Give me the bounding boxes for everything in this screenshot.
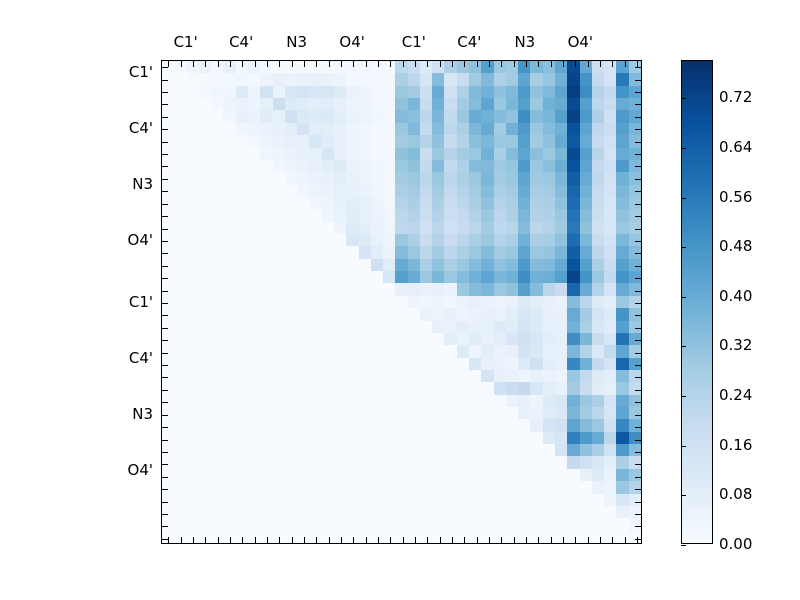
heatmap-cell: [346, 135, 358, 147]
heatmap-cell: [555, 370, 567, 382]
heatmap-cell: [555, 321, 567, 333]
heatmap-cell: [223, 73, 235, 85]
heatmap-cell: [444, 73, 456, 85]
heatmap-cell: [359, 222, 371, 234]
heatmap-cell: [236, 110, 248, 122]
heatmap-cell: [481, 86, 493, 98]
heatmap-cell: [580, 222, 592, 234]
heatmap-cell: [567, 172, 579, 184]
heatmap-cell: [494, 456, 506, 468]
y-tick-mark: [162, 92, 168, 93]
heatmap-cell: [223, 209, 235, 221]
heatmap-cell: [187, 506, 199, 518]
heatmap-cell: [457, 123, 469, 135]
heatmap-cell: [555, 296, 567, 308]
heatmap-cell: [285, 308, 297, 320]
heatmap-cell: [580, 259, 592, 271]
heatmap-cell: [309, 246, 321, 258]
heatmap-cell: [248, 518, 260, 530]
heatmap-cell: [359, 148, 371, 160]
heatmap-cell: [543, 370, 555, 382]
heatmap-cell: [567, 481, 579, 493]
colorbar-tick-labels: 0.000.080.160.240.320.400.480.560.640.72: [681, 0, 791, 600]
y-tick-label: C4': [129, 349, 153, 367]
heatmap-cell: [334, 160, 346, 172]
heatmap-cell: [359, 185, 371, 197]
heatmap-cell: [555, 160, 567, 172]
heatmap-cell: [309, 160, 321, 172]
heatmap-cell: [346, 308, 358, 320]
heatmap-cell: [395, 172, 407, 184]
y-tick-mark: [162, 502, 168, 503]
heatmap-cell: [223, 246, 235, 258]
heatmap-cell: [236, 160, 248, 172]
heatmap-cell: [285, 345, 297, 357]
heatmap-cell: [592, 395, 604, 407]
heatmap-cell: [395, 456, 407, 468]
heatmap-cell: [604, 148, 616, 160]
heatmap-cell: [432, 271, 444, 283]
heatmap-cell: [285, 395, 297, 407]
heatmap-cell: [469, 382, 481, 394]
heatmap-cell: [174, 419, 186, 431]
colorbar-tick-label: 0.64: [719, 138, 752, 156]
heatmap-cell: [420, 259, 432, 271]
heatmap-cell: [297, 123, 309, 135]
y-tick-mark: [162, 365, 168, 366]
heatmap-cell: [322, 246, 334, 258]
heatmap-cell: [580, 469, 592, 481]
heatmap-cell: [285, 185, 297, 197]
x-tick-mark: [637, 61, 638, 67]
heatmap-cell: [297, 419, 309, 431]
heatmap-cell: [555, 345, 567, 357]
heatmap-cell: [444, 222, 456, 234]
heatmap-cell: [543, 308, 555, 320]
heatmap-cell: [383, 370, 395, 382]
heatmap-cell: [530, 370, 542, 382]
heatmap-cell: [580, 197, 592, 209]
y-tick-mark: [162, 390, 168, 391]
heatmap-cell: [432, 518, 444, 530]
heatmap-cell: [199, 271, 211, 283]
y-tick-mark: [635, 539, 641, 540]
heatmap-cell: [494, 172, 506, 184]
heatmap-cell: [285, 73, 297, 85]
heatmap-cell: [580, 283, 592, 295]
heatmap-cell: [236, 296, 248, 308]
heatmap-cell: [371, 506, 383, 518]
heatmap-cell: [506, 432, 518, 444]
heatmap-cell: [555, 98, 567, 110]
heatmap-cell: [285, 494, 297, 506]
x-tick-mark: [415, 537, 416, 543]
heatmap-cell: [346, 345, 358, 357]
heatmap-cell: [359, 481, 371, 493]
heatmap-cell: [518, 456, 530, 468]
heatmap-cell: [322, 209, 334, 221]
heatmap-cell: [285, 506, 297, 518]
heatmap-cell: [334, 98, 346, 110]
heatmap-cell: [444, 123, 456, 135]
x-tick-mark: [378, 61, 379, 67]
heatmap-cell: [481, 259, 493, 271]
heatmap-cell: [162, 370, 174, 382]
x-tick-label: C4': [457, 33, 481, 51]
heatmap-cell: [567, 333, 579, 345]
heatmap-cell: [359, 172, 371, 184]
heatmap-cell: [555, 333, 567, 345]
heatmap-cell: [580, 432, 592, 444]
heatmap-cell: [469, 209, 481, 221]
heatmap-cell: [211, 296, 223, 308]
heatmap-cell: [383, 358, 395, 370]
heatmap-cell: [248, 395, 260, 407]
heatmap-cell: [444, 172, 456, 184]
heatmap-cell: [199, 321, 211, 333]
heatmap-cell: [383, 259, 395, 271]
heatmap-cell: [395, 185, 407, 197]
heatmap-cell: [248, 135, 260, 147]
heatmap-cell: [469, 86, 481, 98]
heatmap-cell: [469, 407, 481, 419]
heatmap-cell: [273, 419, 285, 431]
heatmap-cell: [273, 160, 285, 172]
heatmap-cell: [248, 506, 260, 518]
heatmap-cell: [334, 494, 346, 506]
heatmap-cell: [199, 197, 211, 209]
heatmap-cell: [260, 172, 272, 184]
heatmap-cell: [297, 110, 309, 122]
heatmap-cell: [285, 481, 297, 493]
heatmap-cell: [518, 98, 530, 110]
colorbar-tick-label: 0.24: [719, 386, 752, 404]
heatmap-cell: [211, 456, 223, 468]
heatmap-cell: [383, 135, 395, 147]
heatmap-cell: [395, 160, 407, 172]
heatmap-cell: [346, 370, 358, 382]
heatmap-cell: [371, 160, 383, 172]
heatmap-cell: [199, 382, 211, 394]
heatmap-cell: [616, 172, 628, 184]
x-tick-mark: [341, 537, 342, 543]
heatmap-cell: [334, 271, 346, 283]
x-tick-mark: [625, 61, 626, 67]
heatmap-cell: [383, 419, 395, 431]
heatmap-cell: [457, 197, 469, 209]
heatmap-cell: [162, 456, 174, 468]
heatmap-cell: [248, 123, 260, 135]
heatmap-cell: [383, 123, 395, 135]
heatmap-cell: [371, 370, 383, 382]
heatmap-cell: [432, 296, 444, 308]
heatmap-cell: [555, 123, 567, 135]
x-tick-mark: [514, 61, 515, 67]
heatmap-cell: [395, 61, 407, 73]
heatmap-cell: [236, 234, 248, 246]
heatmap-cell: [211, 419, 223, 431]
heatmap-cell: [174, 160, 186, 172]
heatmap-cell: [223, 185, 235, 197]
heatmap-cell: [420, 345, 432, 357]
heatmap-cell: [629, 395, 641, 407]
x-tick-mark: [575, 537, 576, 543]
heatmap-cell: [567, 407, 579, 419]
heatmap-cell: [580, 271, 592, 283]
heatmap-cell: [604, 308, 616, 320]
heatmap-cell: [371, 382, 383, 394]
heatmap-cell: [334, 506, 346, 518]
heatmap-cell: [481, 61, 493, 73]
heatmap-cell: [322, 382, 334, 394]
y-tick-label: C1': [129, 293, 153, 311]
heatmap-cell: [223, 296, 235, 308]
heatmap-cell: [592, 135, 604, 147]
heatmap-cell: [285, 370, 297, 382]
heatmap-cell: [420, 209, 432, 221]
heatmap-cell: [518, 518, 530, 530]
heatmap-cell: [223, 407, 235, 419]
heatmap-cell: [334, 123, 346, 135]
heatmap-cell: [592, 110, 604, 122]
heatmap-cell: [469, 456, 481, 468]
heatmap-cell: [309, 234, 321, 246]
heatmap-cell: [543, 321, 555, 333]
heatmap-cell: [285, 456, 297, 468]
heatmap-cell: [420, 382, 432, 394]
heatmap-cell: [567, 234, 579, 246]
heatmap-cell: [223, 110, 235, 122]
heatmap-cell: [580, 98, 592, 110]
heatmap-cell: [432, 345, 444, 357]
heatmap-cell: [604, 370, 616, 382]
heatmap-cell: [543, 234, 555, 246]
heatmap-cell: [187, 407, 199, 419]
colorbar-tick-label: 0.56: [719, 188, 752, 206]
heatmap-cell: [248, 494, 260, 506]
heatmap-cell: [187, 296, 199, 308]
heatmap-cell: [567, 432, 579, 444]
heatmap-cell: [530, 494, 542, 506]
heatmap-cell: [457, 494, 469, 506]
heatmap-cell: [506, 110, 518, 122]
heatmap-cell: [494, 469, 506, 481]
heatmap-cell: [273, 494, 285, 506]
heatmap-cell: [543, 481, 555, 493]
heatmap-cell: [297, 321, 309, 333]
heatmap-cell: [530, 469, 542, 481]
heatmap-cell: [322, 123, 334, 135]
heatmap-cell: [260, 160, 272, 172]
heatmap-cell: [260, 494, 272, 506]
heatmap-cell: [555, 432, 567, 444]
heatmap-cell: [199, 222, 211, 234]
heatmap-cell: [518, 419, 530, 431]
heatmap-cell: [334, 296, 346, 308]
heatmap-cell: [444, 494, 456, 506]
heatmap-cell: [444, 246, 456, 258]
heatmap-cell: [543, 160, 555, 172]
heatmap-cell: [506, 308, 518, 320]
heatmap-cell: [629, 432, 641, 444]
heatmap-cell: [469, 98, 481, 110]
heatmap-cell: [395, 370, 407, 382]
heatmap-cell: [592, 456, 604, 468]
heatmap-cell: [199, 456, 211, 468]
heatmap-cell: [481, 407, 493, 419]
heatmap-cell: [223, 283, 235, 295]
heatmap-cell: [481, 110, 493, 122]
heatmap-cell: [481, 345, 493, 357]
y-tick-mark: [162, 278, 168, 279]
heatmap-cell: [199, 246, 211, 258]
heatmap-cell: [616, 271, 628, 283]
heatmap-cell: [444, 86, 456, 98]
heatmap-cell: [444, 271, 456, 283]
heatmap-cell: [530, 110, 542, 122]
heatmap-cell: [199, 259, 211, 271]
heatmap-cell: [334, 481, 346, 493]
heatmap-cell: [506, 506, 518, 518]
heatmap-cell: [629, 481, 641, 493]
heatmap-cell: [481, 481, 493, 493]
x-tick-mark: [427, 537, 428, 543]
heatmap-cell: [199, 345, 211, 357]
heatmap-cell: [494, 531, 506, 543]
heatmap-cell: [616, 358, 628, 370]
heatmap-cell: [420, 135, 432, 147]
heatmap-cell: [469, 370, 481, 382]
heatmap-cell: [457, 185, 469, 197]
heatmap-cell: [616, 370, 628, 382]
heatmap-cell: [555, 395, 567, 407]
heatmap-cell: [555, 110, 567, 122]
heatmap-cell: [346, 321, 358, 333]
x-tick-mark: [501, 537, 502, 543]
heatmap-cell: [457, 419, 469, 431]
heatmap-cell: [408, 333, 420, 345]
heatmap-cell: [174, 246, 186, 258]
heatmap-cell: [273, 246, 285, 258]
heatmap-cell: [604, 197, 616, 209]
colorbar-tick-label: 0.32: [719, 336, 752, 354]
heatmap-cell: [223, 160, 235, 172]
heatmap-cell: [580, 395, 592, 407]
x-tick-mark: [279, 537, 280, 543]
heatmap-cell: [297, 271, 309, 283]
heatmap-cell: [285, 110, 297, 122]
heatmap-cell: [506, 61, 518, 73]
heatmap-cell: [592, 98, 604, 110]
heatmap-cell: [444, 531, 456, 543]
y-tick-mark: [635, 377, 641, 378]
heatmap-cell: [543, 86, 555, 98]
heatmap-cell: [285, 197, 297, 209]
heatmap-cell: [481, 296, 493, 308]
heatmap-cell: [494, 271, 506, 283]
heatmap-cell: [334, 234, 346, 246]
heatmap-cell: [506, 222, 518, 234]
heatmap-cell: [444, 333, 456, 345]
heatmap-cell: [408, 73, 420, 85]
heatmap-axes[interactable]: [161, 60, 642, 544]
y-tick-mark: [162, 377, 168, 378]
heatmap-grid: [162, 61, 641, 543]
x-tick-mark: [538, 537, 539, 543]
heatmap-cell: [248, 246, 260, 258]
heatmap-cell: [236, 135, 248, 147]
heatmap-cell: [174, 321, 186, 333]
heatmap-cell: [420, 308, 432, 320]
heatmap-cell: [297, 222, 309, 234]
heatmap-cell: [297, 506, 309, 518]
heatmap-cell: [309, 370, 321, 382]
heatmap-cell: [580, 110, 592, 122]
heatmap-cell: [248, 283, 260, 295]
heatmap-cell: [518, 160, 530, 172]
heatmap-cell: [518, 407, 530, 419]
heatmap-cell: [530, 246, 542, 258]
heatmap-cell: [432, 209, 444, 221]
heatmap-cell: [506, 333, 518, 345]
heatmap-cell: [395, 345, 407, 357]
heatmap-cell: [555, 494, 567, 506]
heatmap-cell: [395, 444, 407, 456]
heatmap-cell: [359, 518, 371, 530]
heatmap-cell: [236, 444, 248, 456]
heatmap-cell: [518, 135, 530, 147]
heatmap-cell: [395, 234, 407, 246]
x-tick-mark: [267, 61, 268, 67]
figure-canvas: C1'C4'N3O4'C1'C4'N3O4' C1'C4'N3O4'C1'C4'…: [0, 0, 800, 600]
heatmap-cell: [309, 172, 321, 184]
heatmap-cell: [543, 333, 555, 345]
heatmap-cell: [236, 185, 248, 197]
heatmap-cell: [297, 432, 309, 444]
heatmap-cell: [580, 185, 592, 197]
heatmap-cell: [580, 172, 592, 184]
heatmap-cell: [383, 148, 395, 160]
heatmap-cell: [236, 321, 248, 333]
heatmap-cell: [211, 345, 223, 357]
heatmap-cell: [604, 358, 616, 370]
x-tick-mark: [563, 537, 564, 543]
heatmap-cell: [420, 148, 432, 160]
heatmap-cell: [580, 321, 592, 333]
heatmap-cell: [469, 135, 481, 147]
heatmap-cell: [174, 110, 186, 122]
y-tick-mark: [635, 104, 641, 105]
heatmap-cell: [371, 185, 383, 197]
heatmap-cell: [469, 61, 481, 73]
heatmap-cell: [322, 358, 334, 370]
x-tick-mark: [612, 537, 613, 543]
heatmap-cell: [555, 222, 567, 234]
heatmap-cell: [481, 271, 493, 283]
heatmap-cell: [469, 333, 481, 345]
heatmap-cell: [555, 382, 567, 394]
heatmap-cell: [199, 518, 211, 530]
heatmap-cell: [604, 494, 616, 506]
heatmap-cell: [371, 86, 383, 98]
heatmap-cell: [273, 382, 285, 394]
y-tick-mark: [635, 216, 641, 217]
heatmap-cell: [383, 444, 395, 456]
heatmap-cell: [506, 407, 518, 419]
heatmap-cell: [530, 259, 542, 271]
heatmap-cell: [187, 185, 199, 197]
heatmap-cell: [469, 283, 481, 295]
